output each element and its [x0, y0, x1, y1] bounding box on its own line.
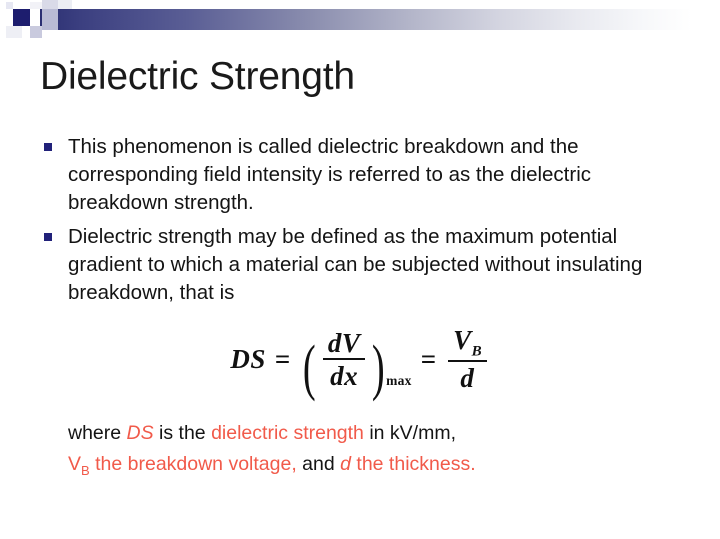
slide-canvas: Dielectric Strength This phenomenon is c… [0, 0, 720, 539]
where-connector-1: is the [154, 422, 211, 444]
term-dielectric-strength: dielectric strength [211, 422, 364, 444]
list-item-text: This phenomenon is called dielectric bre… [68, 135, 591, 214]
page-title: Dielectric Strength [40, 54, 355, 100]
formula-fraction-vb-over-d: VB d [448, 326, 487, 393]
fraction-denominator: d [455, 362, 479, 392]
decor-square-1 [13, 9, 30, 26]
decor-square-2 [6, 2, 13, 9]
formula-expression: DS = ( dV dx ) max = VB d [230, 326, 489, 393]
bullet-square-icon [44, 143, 52, 151]
header-gradient-bar [40, 9, 712, 30]
fraction-denominator: dx [325, 360, 363, 390]
symbol-vb-subscript: B [81, 463, 90, 478]
formula-lhs: DS [230, 344, 266, 375]
formula-fraction-derivative: dV dx [323, 329, 366, 391]
paren-close-glyph: ) [372, 346, 385, 391]
term-thickness: the thickness. [351, 453, 476, 475]
where-units: in kV/mm, [364, 422, 456, 444]
formula-parenthesized-derivative: ( dV dx ) max [299, 329, 411, 391]
term-breakdown-voltage: the breakdown voltage, [90, 453, 297, 475]
formula-equals-2: = [421, 344, 436, 375]
symbol-ds: DS [127, 422, 154, 444]
symbol-d: d [340, 453, 351, 475]
paren-open-glyph: ( [303, 346, 316, 391]
decor-square-7 [42, 9, 58, 30]
numerator-symbol-v: V [453, 325, 472, 355]
where-line-2: VB the breakdown voltage, and d the thic… [68, 449, 668, 480]
list-item: Dielectric strength may be defined as th… [42, 223, 682, 307]
symbol-vb-base: V [68, 453, 81, 475]
header-decoration [0, 0, 720, 44]
where-connector-2: and [297, 453, 340, 475]
fraction-numerator: VB [448, 326, 487, 362]
decor-square-6 [42, 0, 58, 9]
where-prefix: where [68, 422, 127, 444]
bullet-list: This phenomenon is called dielectric bre… [42, 133, 682, 313]
formula-block: DS = ( dV dx ) max = VB d [0, 326, 720, 393]
decor-square-5 [30, 26, 42, 38]
formula-equals-1: = [275, 344, 290, 375]
list-item: This phenomenon is called dielectric bre… [42, 133, 682, 217]
symbol-vb: VB [68, 453, 90, 475]
decor-square-4 [30, 2, 42, 9]
formula-subscript-max: max [386, 373, 412, 389]
fraction-numerator: dV [323, 329, 366, 360]
decor-square-9 [58, 0, 72, 9]
numerator-subscript-b: B [472, 343, 482, 359]
list-item-text: Dielectric strength may be defined as th… [68, 225, 642, 304]
decor-square-3 [6, 26, 22, 38]
bullet-square-icon [44, 233, 52, 241]
where-line-1: where DS is the dielectric strength in k… [68, 418, 668, 449]
where-clause: where DS is the dielectric strength in k… [68, 418, 668, 480]
